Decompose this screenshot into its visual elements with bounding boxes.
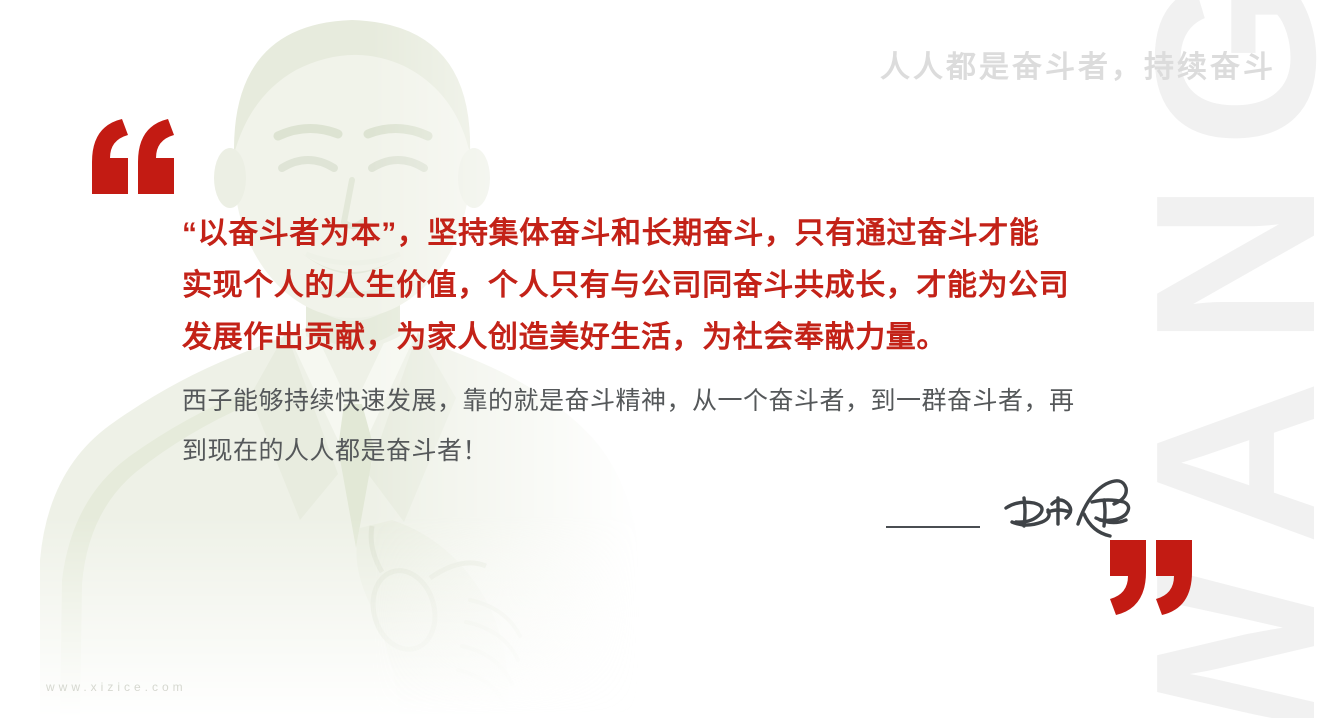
- footer-website-url: www.xizice.com: [46, 680, 187, 694]
- quote-gray-line: 西子能够持续快速发展，靠的就是奋斗精神，从一个奋斗者，到一群奋斗者，再: [182, 376, 1162, 426]
- slide-root: WANG 人人都是奋斗者，持续奋斗 “以奋斗者为本”，坚持集体奋斗和长期奋斗，只…: [0, 0, 1322, 718]
- signature-block: [886, 478, 1156, 548]
- signature-dash: [886, 526, 980, 528]
- quote-red-line: “以奋斗者为本”，坚持集体奋斗和长期奋斗，只有通过奋斗才能: [182, 208, 1162, 260]
- quote-red-line: 发展作出贡献，为家人创造美好生活，为社会奉献力量。: [182, 312, 1162, 364]
- quote-gray-line: 到现在的人人都是奋斗者！: [182, 426, 1162, 476]
- page-title: 人人都是奋斗者，持续奋斗: [880, 42, 1276, 86]
- open-quote-icon: [88, 118, 176, 199]
- quote-red-paragraph: “以奋斗者为本”，坚持集体奋斗和长期奋斗，只有通过奋斗才能 实现个人的人生价值，…: [182, 208, 1162, 364]
- wang-name-watermark-text: WANG: [1136, 0, 1322, 718]
- wang-name-watermark: WANG: [1136, 0, 1322, 718]
- quote-content: “以奋斗者为本”，坚持集体奋斗和长期奋斗，只有通过奋斗才能 实现个人的人生价值，…: [182, 208, 1162, 476]
- quote-gray-paragraph: 西子能够持续快速发展，靠的就是奋斗精神，从一个奋斗者，到一群奋斗者，再 到现在的…: [182, 376, 1162, 476]
- close-quote-icon: [1108, 540, 1196, 621]
- signature-handwriting: [1000, 478, 1136, 549]
- quote-red-line: 实现个人的人生价值，个人只有与公司同奋斗共成长，才能为公司: [182, 260, 1162, 312]
